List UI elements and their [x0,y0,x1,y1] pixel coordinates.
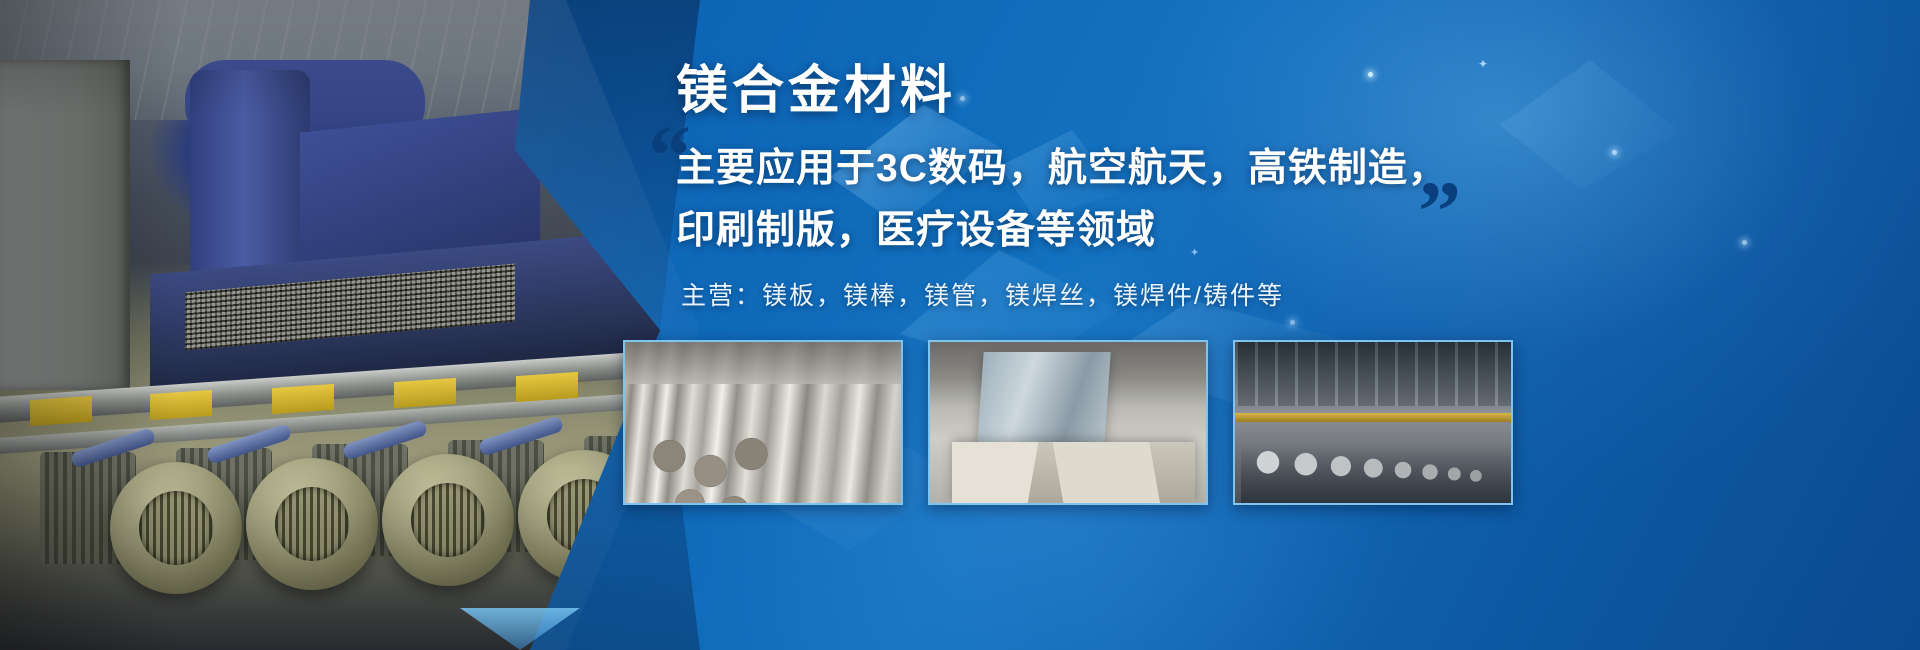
sparkle-icon [1290,320,1295,325]
magnesium-alloy-hero-banner: ✦ ✦ ✦ 镁合金材料 “ ” 主要应用于3C数码，航空航天，高铁制造， 印刷制… [0,0,1920,650]
product-thumbnail-row [623,340,1513,505]
sparkle-icon [960,96,965,101]
quote-text: 主要应用于3C数码，航空航天，高铁制造， 印刷制版，医疗设备等领域 [676,138,1466,262]
quote-line-2: 印刷制版，医疗设备等领域 [676,200,1466,262]
product-thumbnail-bars[interactable] [623,340,903,505]
product-subtitle: 主营：镁板，镁棒，镁管，镁焊丝，镁焊件/铸件等 [681,276,1284,312]
product-thumbnail-coils[interactable] [1233,340,1513,505]
warehouse-beam [1235,413,1511,422]
sparkle-icon [1368,72,1373,77]
product-thumbnail-plates[interactable] [928,340,1208,505]
sparkle-icon [1612,150,1617,155]
page-title: 镁合金材料 [676,48,956,123]
quote-line-1: 主要应用于3C数码，航空航天，高铁制造， [676,138,1466,200]
sparkle-icon [1742,240,1747,245]
sparkle-cross-icon: ✦ [1478,58,1488,70]
